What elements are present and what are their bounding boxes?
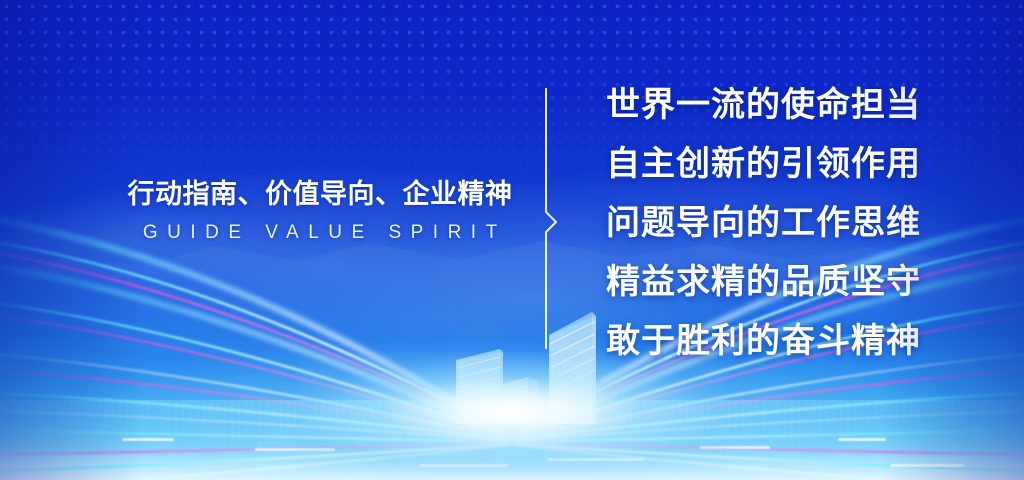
slogan-line-1: 世界一流的使命担当: [606, 76, 1006, 135]
vertical-divider: [543, 88, 565, 357]
slogan-line-3: 问题导向的工作思维: [606, 194, 1006, 253]
slogan-line-5: 敢于胜利的奋斗精神: [606, 312, 1006, 371]
left-title: 行动指南、价值导向、企业精神: [120, 178, 520, 212]
slogan-line-4: 精益求精的品质坚守: [606, 253, 1006, 312]
hero-banner: 行动指南、价值导向、企业精神 GUIDE VALUE SPIRIT 世界一流的使…: [0, 0, 1024, 480]
right-text-block: 世界一流的使命担当 自主创新的引领作用 问题导向的工作思维 精益求精的品质坚守 …: [606, 76, 1006, 371]
slogan-line-2: 自主创新的引领作用: [606, 135, 1006, 194]
left-text-block: 行动指南、价值导向、企业精神 GUIDE VALUE SPIRIT: [120, 178, 520, 244]
left-subtitle: GUIDE VALUE SPIRIT: [120, 222, 520, 244]
chevron-right-icon: [543, 88, 565, 352]
